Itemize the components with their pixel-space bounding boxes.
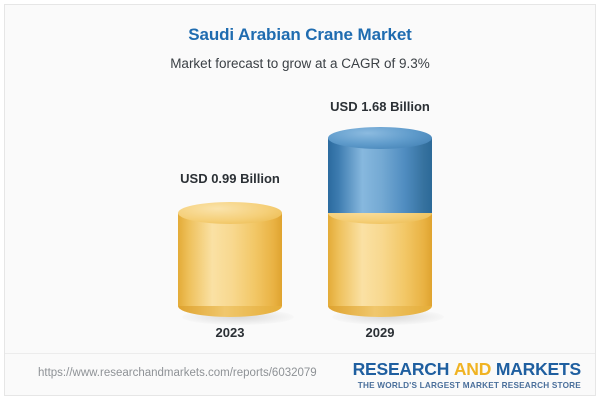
bar-2023-body-base <box>178 213 282 306</box>
bar-value-label-2029: USD 1.68 Billion <box>290 99 470 114</box>
report-url[interactable]: https://www.researchandmarkets.com/repor… <box>38 367 317 379</box>
bar-2023-top-ellipse <box>178 202 282 224</box>
bar-2029-top-ellipse <box>328 127 432 149</box>
chart-card: Saudi Arabian Crane Market Market foreca… <box>4 4 596 396</box>
logo-word-markets: MARKETS <box>496 359 581 379</box>
bar-value-label-2023: USD 0.99 Billion <box>140 171 320 186</box>
research-and-markets-logo[interactable]: RESEARCH AND MARKETS THE WORLD'S LARGEST… <box>353 360 581 391</box>
chart-plot-area: USD 0.99 Billion 2023 USD 1.68 Billion 2… <box>5 5 596 350</box>
bar-2029-body-growth <box>328 138 432 213</box>
logo-word-and: AND <box>454 359 491 379</box>
logo-wordmark: RESEARCH AND MARKETS <box>353 360 581 379</box>
bar-cylinder-2023[interactable] <box>178 202 282 317</box>
bar-category-label-2029: 2029 <box>290 325 470 340</box>
logo-word-research: RESEARCH <box>353 359 450 379</box>
bar-2029-body-base <box>328 213 432 306</box>
bar-cylinder-2029[interactable] <box>328 127 432 317</box>
logo-tagline: THE WORLD'S LARGEST MARKET RESEARCH STOR… <box>353 380 581 391</box>
footer: https://www.researchandmarkets.com/repor… <box>5 354 596 395</box>
